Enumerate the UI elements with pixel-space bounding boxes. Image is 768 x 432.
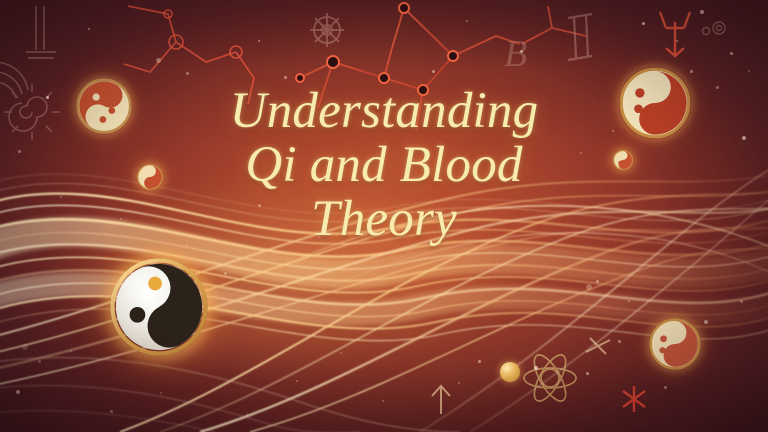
title-card-stage: B bbox=[0, 0, 768, 432]
background-vignette bbox=[0, 0, 768, 432]
